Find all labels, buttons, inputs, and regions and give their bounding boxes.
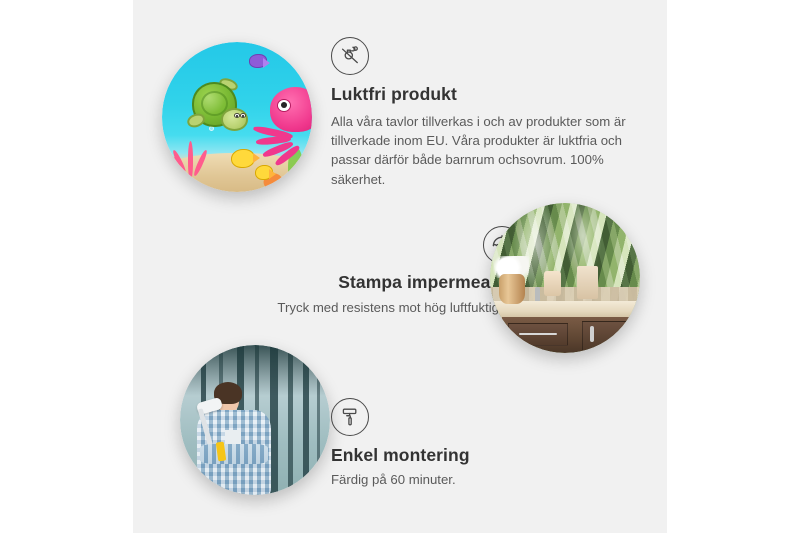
feature-description: Färdig på 60 minuter. [331, 470, 631, 489]
turtle-illustration [186, 81, 255, 138]
feature-description: Alla våra tavlor tillverkas i och av pro… [331, 112, 631, 189]
no-odour-spray-bottle-icon [331, 37, 369, 75]
painter-forest-photo [180, 345, 330, 495]
content-panel: Luktfri produkt Alla våra tavlor tillver… [133, 0, 667, 533]
feature-title: Luktfri produkt [331, 84, 631, 106]
tissue-box-shape [577, 266, 598, 299]
paint-roller-icon [331, 398, 369, 436]
lamp-shape [544, 271, 561, 297]
feature-title: Enkel montering [331, 445, 631, 467]
page-root: Luktfri produkt Alla våra tavlor tillver… [0, 0, 800, 533]
feature-title: Stampa impermeabile [191, 272, 521, 294]
fish-illustration [249, 54, 267, 68]
coral-shape [171, 135, 213, 180]
feature-easy-assembly: Enkel montering Färdig på 60 minuter. [331, 398, 631, 489]
octopus-illustration [252, 87, 312, 159]
feature-waterproof: Stampa impermeabile Tryck med resistens … [191, 226, 521, 317]
feature-description: Tryck med resistens mot hög luftfuktighe… [191, 298, 521, 317]
bathroom-wallpaper-photo [490, 203, 640, 353]
woman-with-roller [192, 384, 276, 495]
fish-illustration [255, 165, 273, 180]
icon-wrapper [191, 226, 521, 264]
vase-shape [499, 274, 525, 304]
fish-illustration [231, 149, 255, 169]
feature-odourless: Luktfri produkt Alla våra tavlor tillver… [331, 37, 631, 189]
vanity-cabinet [502, 317, 640, 353]
underwater-cartoon-photo [162, 42, 312, 192]
